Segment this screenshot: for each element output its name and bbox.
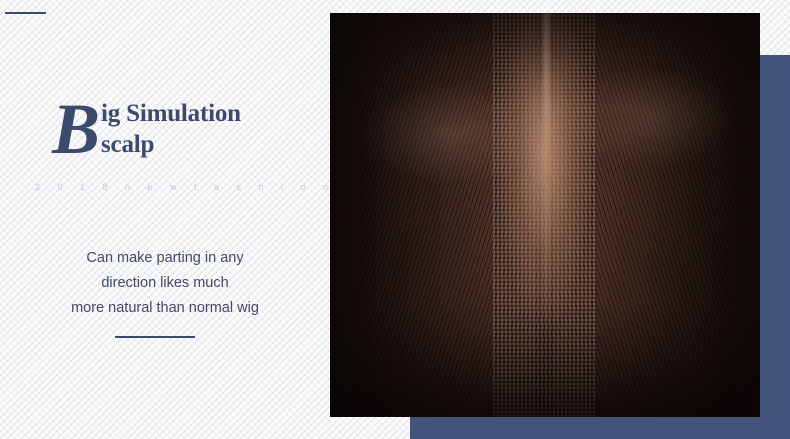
body-line-3: more natural than normal wig (20, 296, 310, 321)
promo-banner: B ig Simulation scalp 2 0 1 8 n e w f a … (0, 0, 790, 439)
left-text-column: B ig Simulation scalp 2 0 1 8 n e w f a … (0, 0, 330, 439)
body-copy: Can make parting in any direction likes … (20, 246, 310, 321)
product-photo (330, 13, 760, 417)
headline-block: B ig Simulation scalp (52, 98, 312, 160)
body-line-1: Can make parting in any (20, 246, 310, 271)
photo-vignette (330, 13, 760, 417)
bottom-blue-panel (410, 417, 790, 439)
right-blue-panel (760, 55, 790, 439)
bottom-accent-rule (115, 336, 195, 338)
headline-dropcap: B (52, 98, 99, 160)
kicker-text: 2 0 1 8 n e w f a s h i o n (35, 182, 310, 192)
body-line-2: direction likes much (20, 271, 310, 296)
